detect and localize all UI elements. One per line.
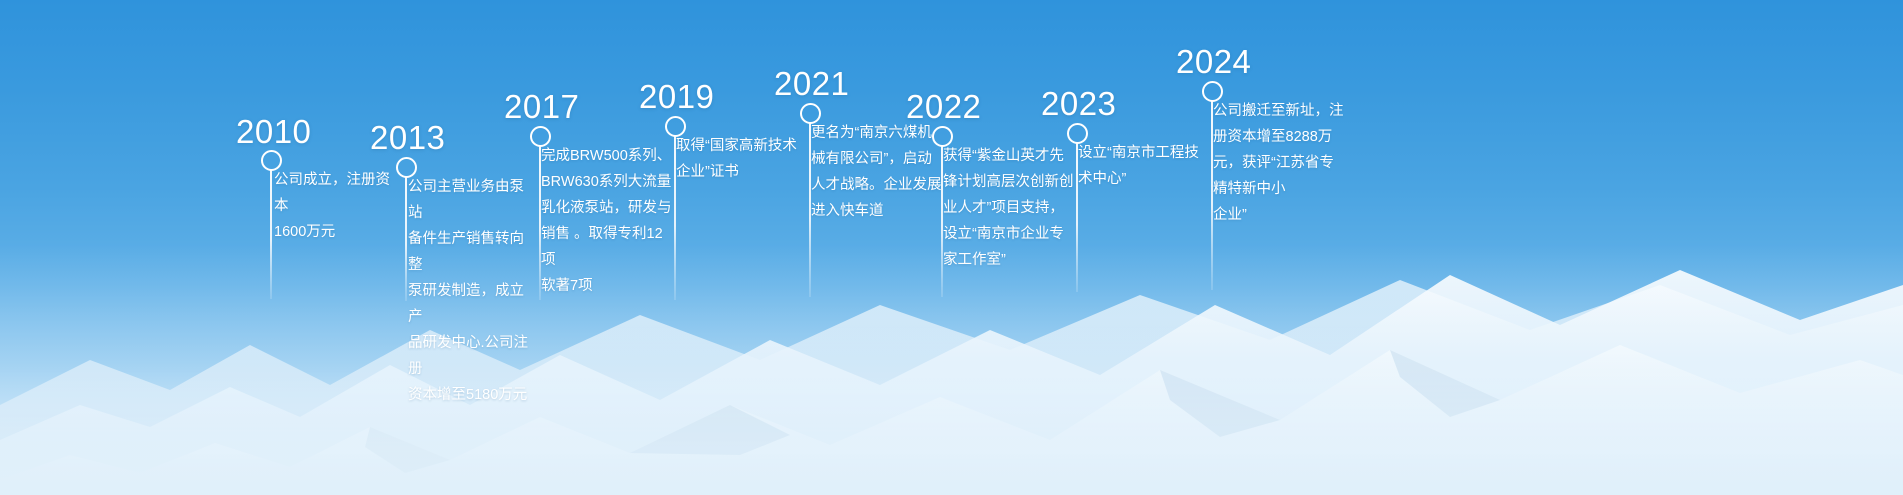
timeline-description: 公司搬迁至新址，注 册资本增至8288万 元，获评“江苏省专 精特新中小 企业” xyxy=(1213,98,1348,228)
timeline-description: 更名为“南京六煤机 械有限公司”，启动 人才战略。企业发展 进入快车道 xyxy=(811,120,946,224)
timeline-description: 获得“紫金山英才先 锋计划高层次创新创 业人才”项目支持， 设立“南京市企业专 … xyxy=(943,143,1078,273)
timeline-year-label: 2023 xyxy=(1041,85,1116,123)
timeline-graphic: 2010公司成立，注册资本 1600万元2013公司主营业务由泵站 备件生产销售… xyxy=(0,0,1903,495)
timeline-year-label: 2021 xyxy=(774,65,849,103)
timeline-stem-line xyxy=(270,169,272,299)
timeline-year-label: 2013 xyxy=(370,119,445,157)
timeline-year-label: 2024 xyxy=(1176,43,1251,81)
timeline-stem-line xyxy=(405,176,407,301)
timeline-description: 公司主营业务由泵站 备件生产销售转向整 泵研发制造，成立产 品研发中心.公司注册… xyxy=(408,174,538,408)
timeline-description: 公司成立，注册资本 1600万元 xyxy=(274,167,404,245)
timeline-description: 取得“国家高新技术 企业”证书 xyxy=(676,133,808,185)
timeline-year-label: 2019 xyxy=(639,78,714,116)
timeline-description: 设立“南京市工程技 术中心” xyxy=(1078,140,1210,192)
timeline-year-label: 2010 xyxy=(236,113,311,151)
timeline-year-label: 2017 xyxy=(504,88,579,126)
timeline-description: 完成BRW500系列、 BRW630系列大流量 乳化液泵站，研发与 销售 。取得… xyxy=(541,143,673,299)
timeline-year-label: 2022 xyxy=(906,88,981,126)
timeline: 2010公司成立，注册资本 1600万元2013公司主营业务由泵站 备件生产销售… xyxy=(0,0,1903,495)
